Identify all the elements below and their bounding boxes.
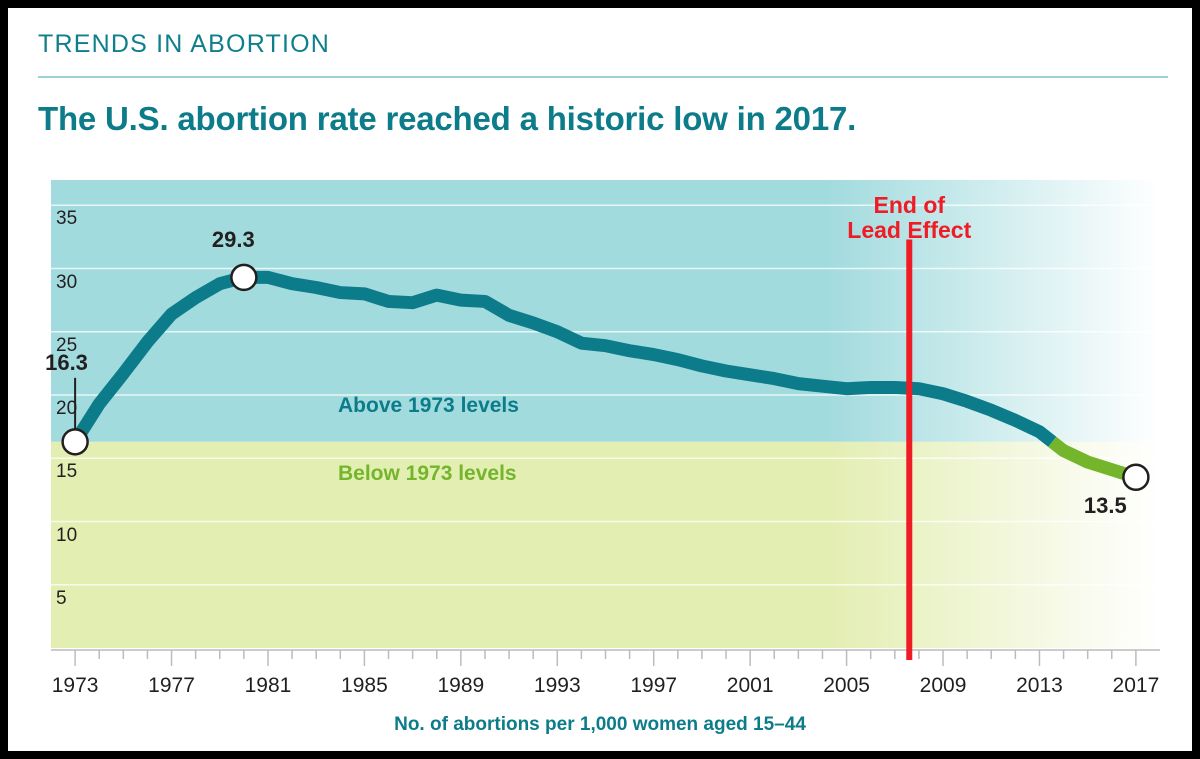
header-divider (38, 76, 1168, 78)
eyebrow-label: TRENDS IN ABORTION (38, 30, 330, 59)
point-label-end: 13.5 (1084, 493, 1127, 519)
x-axis-tick-label: 1993 (517, 674, 597, 698)
y-axis-tick-label: 35 (56, 208, 96, 230)
band-below-threshold (51, 442, 1160, 648)
y-axis-tick-label: 10 (56, 525, 96, 547)
x-axis-tick-label: 1973 (35, 674, 115, 698)
page-title: The U.S. abortion rate reached a histori… (38, 100, 856, 138)
x-axis-tick-label: 1985 (324, 674, 404, 698)
x-axis-tick-label: 2017 (1096, 674, 1176, 698)
data-point-marker (1123, 465, 1148, 490)
y-axis-tick-label: 30 (56, 272, 96, 294)
point-label-peak: 29.3 (212, 227, 255, 253)
y-axis-tick-label: 15 (56, 461, 96, 483)
x-axis-tick-label: 2005 (807, 674, 887, 698)
data-point-marker (63, 429, 88, 454)
point-label-start: 16.3 (45, 350, 88, 376)
infographic-page: TRENDS IN ABORTION The U.S. abortion rat… (8, 8, 1192, 751)
x-axis-tick-label: 1997 (614, 674, 694, 698)
y-axis-tick-label: 20 (56, 398, 96, 420)
lead-effect-line-2: Lead Effect (779, 218, 1039, 244)
x-axis-tick-label: 2001 (710, 674, 790, 698)
y-axis-tick-label: 5 (56, 588, 96, 610)
band-label-below: Below 1973 levels (338, 462, 517, 486)
x-axis-tick-label: 1981 (228, 674, 308, 698)
line-chart: 5101520253035197319771981198519891993199… (8, 158, 1192, 703)
x-axis-tick-label: 2013 (999, 674, 1079, 698)
lead-effect-line-1: End of (779, 193, 1039, 219)
band-label-above: Above 1973 levels (338, 394, 519, 418)
x-axis-tick-label: 1989 (421, 674, 501, 698)
lead-effect-annotation: End ofLead Effect (779, 193, 1039, 245)
data-point-marker (231, 265, 256, 290)
x-axis-tick-label: 2009 (903, 674, 983, 698)
x-axis-tick-label: 1977 (132, 674, 212, 698)
chart-caption: No. of abortions per 1,000 women aged 15… (8, 714, 1192, 736)
